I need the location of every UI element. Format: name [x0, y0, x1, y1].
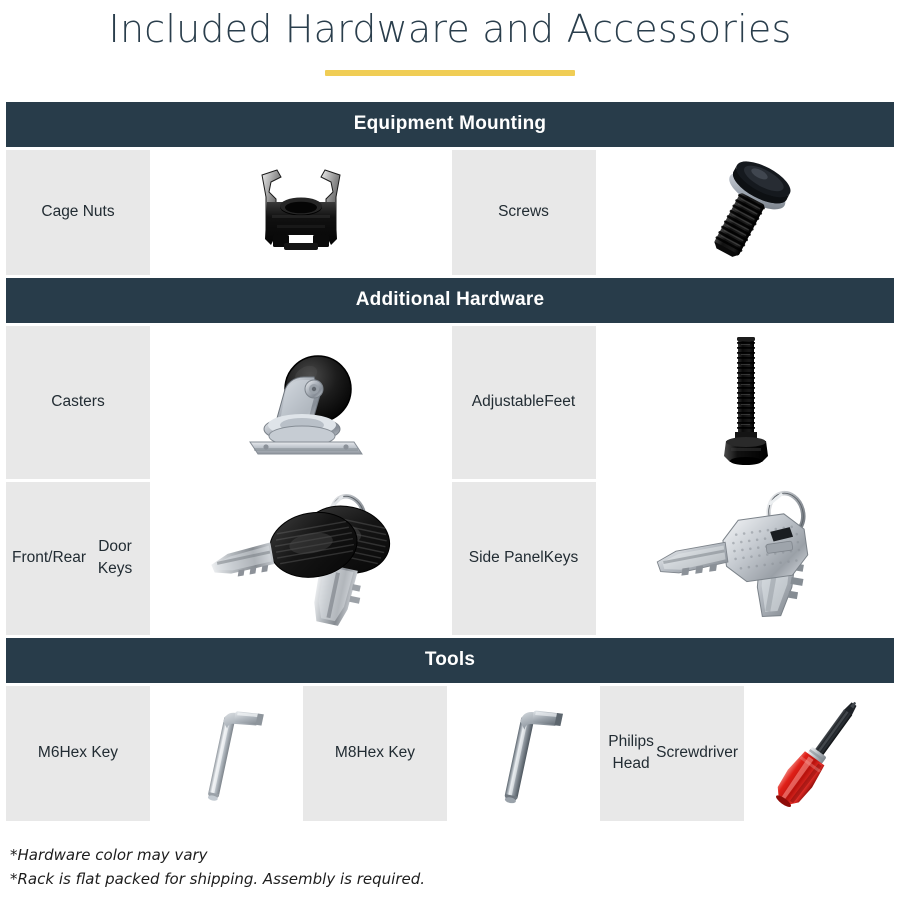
cage-nut-photo — [236, 159, 366, 265]
item-image-cell-m6-hex-key — [153, 686, 300, 821]
black-keys-photo — [196, 488, 406, 628]
item-label-line1: Adjustable — [472, 391, 544, 413]
item-label-line1: Philips Head — [606, 731, 656, 775]
item-label-casters: Casters — [6, 326, 150, 479]
item-label-cage-nuts: Cage Nuts — [6, 150, 150, 275]
caster-wheel-photo — [216, 337, 386, 467]
hex-key-m6-photo — [177, 693, 277, 813]
adjustable-foot-photo — [711, 334, 781, 470]
table-row: Casters — [6, 326, 894, 479]
item-label-line2: Hex Key — [356, 742, 415, 764]
table-row: Front/Rear Door Keys — [6, 482, 894, 635]
item-label-line1: M6 — [38, 742, 60, 764]
screwdriver-photo — [761, 690, 881, 816]
item-label-adjustable-feet: Adjustable Feet — [452, 326, 596, 479]
item-label-line1: Front/Rear — [12, 547, 86, 569]
section-header-additional-hardware: Additional Hardware — [6, 278, 894, 323]
item-label-line1: M8 — [335, 742, 357, 764]
item-label-philips-head-screwdriver: Philips Head Screwdriver — [600, 686, 744, 821]
item-label-line2: Feet — [544, 391, 575, 413]
item-image-cell-philips-head-screwdriver — [747, 686, 894, 821]
title-block: Included Hardware and Accessories — [0, 0, 900, 76]
table-row: M6 Hex Key — [6, 686, 894, 821]
item-label-screws: Screws — [452, 150, 596, 275]
footnote-flat-packed: *Rack is flat packed for shipping. Assem… — [10, 867, 900, 892]
item-label-line2: Door Keys — [86, 536, 144, 580]
item-image-cell-casters — [153, 326, 449, 479]
item-image-cell-adjustable-feet — [599, 326, 895, 479]
section-header-equipment-mounting: Equipment Mounting — [6, 102, 894, 147]
table-row: Cage Nuts — [6, 150, 894, 275]
hardware-table: Equipment Mounting Cage Nuts — [6, 102, 894, 821]
item-image-cell-side-panel-keys — [599, 482, 895, 635]
footnote-hardware-color: *Hardware color may vary — [10, 843, 900, 868]
item-label-m6-hex-key: M6 Hex Key — [6, 686, 150, 821]
item-label-m8-hex-key: M8 Hex Key — [303, 686, 447, 821]
spec-sheet-page: Included Hardware and Accessories Equipm… — [0, 0, 900, 900]
item-image-cell-screws — [599, 150, 895, 275]
silver-keys-photo — [646, 488, 846, 628]
section-header-tools: Tools — [6, 638, 894, 683]
screw-photo — [683, 157, 809, 267]
item-image-cell-m8-hex-key — [450, 686, 597, 821]
item-label-line1: Side Panel — [469, 547, 544, 569]
page-title: Included Hardware and Accessories — [0, 8, 900, 52]
title-accent-underline — [325, 70, 575, 76]
hex-key-m8-photo — [474, 693, 574, 813]
item-image-cell-cage-nuts — [153, 150, 449, 275]
item-image-cell-front-rear-door-keys — [153, 482, 449, 635]
item-label-line2: Hex Key — [59, 742, 118, 764]
footnotes: *Hardware color may vary *Rack is flat p… — [10, 843, 900, 893]
item-label-side-panel-keys: Side Panel Keys — [452, 482, 596, 635]
item-label-line2: Screwdriver — [656, 742, 738, 764]
item-label-front-rear-door-keys: Front/Rear Door Keys — [6, 482, 150, 635]
item-label-line2: Keys — [544, 547, 578, 569]
